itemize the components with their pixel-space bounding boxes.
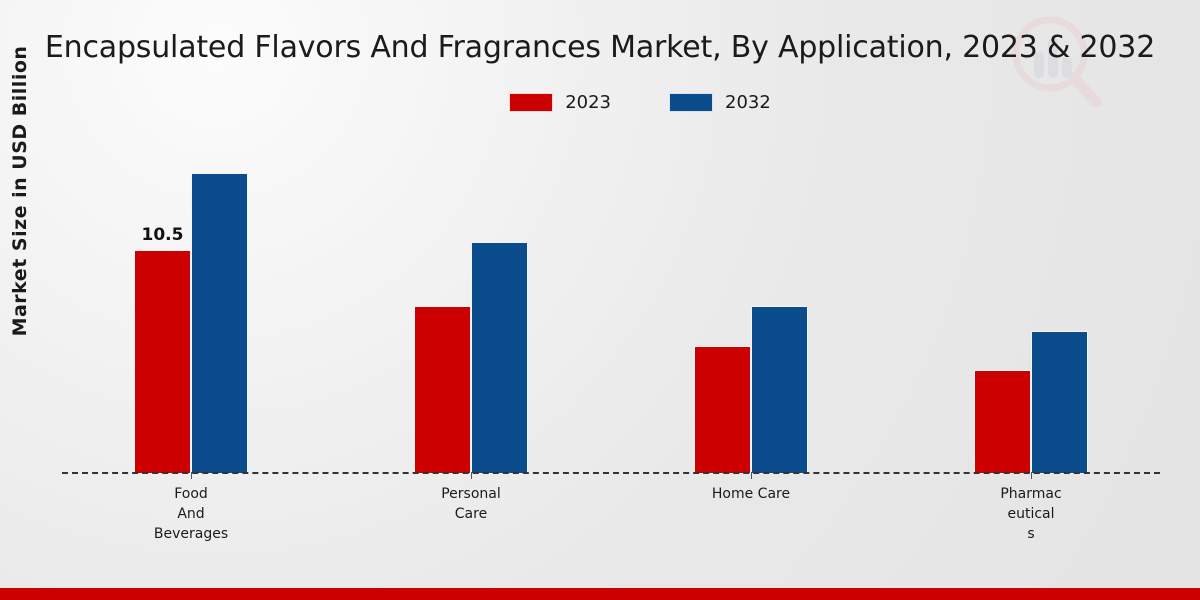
- plot-area: 10.5: [62, 150, 1160, 474]
- bar-2023-2[interactable]: [694, 346, 751, 474]
- legend-swatch-2032: [669, 93, 713, 112]
- x-axis-tick: [1031, 472, 1032, 479]
- bar-group: [694, 150, 808, 474]
- y-axis-title: Market Size in USD Billion: [9, 21, 31, 361]
- bar-group: 10.5: [134, 150, 248, 474]
- bar-2032-3[interactable]: [1031, 331, 1088, 474]
- x-axis-label-3: Pharmaceuticals: [956, 484, 1106, 544]
- bar-group: [414, 150, 528, 474]
- chart-figure: Encapsulated Flavors And Fragrances Mark…: [0, 0, 1200, 600]
- x-axis-tick: [191, 472, 192, 479]
- bar-2032-0[interactable]: [191, 173, 248, 474]
- legend-label-2032: 2032: [725, 92, 771, 113]
- bottom-accent-strip: [0, 588, 1200, 600]
- x-axis-label-0: FoodAndBeverages: [116, 484, 266, 544]
- x-axis-baseline: [62, 472, 1160, 474]
- bar-2032-2[interactable]: [751, 306, 808, 474]
- x-axis-label-2: Home Care: [676, 484, 826, 504]
- bar-2023-0[interactable]: 10.5: [134, 250, 191, 474]
- x-axis-tick: [471, 472, 472, 479]
- chart-legend: 2023 2032: [0, 92, 1200, 113]
- bar-value-label: 10.5: [142, 225, 184, 245]
- bar-2023-3[interactable]: [974, 370, 1031, 474]
- legend-item-2023[interactable]: 2023: [509, 92, 611, 113]
- legend-swatch-2023: [509, 93, 553, 112]
- bar-group: [974, 150, 1088, 474]
- x-axis-label-1: PersonalCare: [396, 484, 546, 524]
- legend-item-2032[interactable]: 2032: [669, 92, 771, 113]
- bar-2023-1[interactable]: [414, 306, 471, 474]
- x-axis-tick: [751, 472, 752, 479]
- bar-2032-1[interactable]: [471, 242, 528, 474]
- chart-title: Encapsulated Flavors And Fragrances Mark…: [0, 30, 1200, 65]
- legend-label-2023: 2023: [565, 92, 611, 113]
